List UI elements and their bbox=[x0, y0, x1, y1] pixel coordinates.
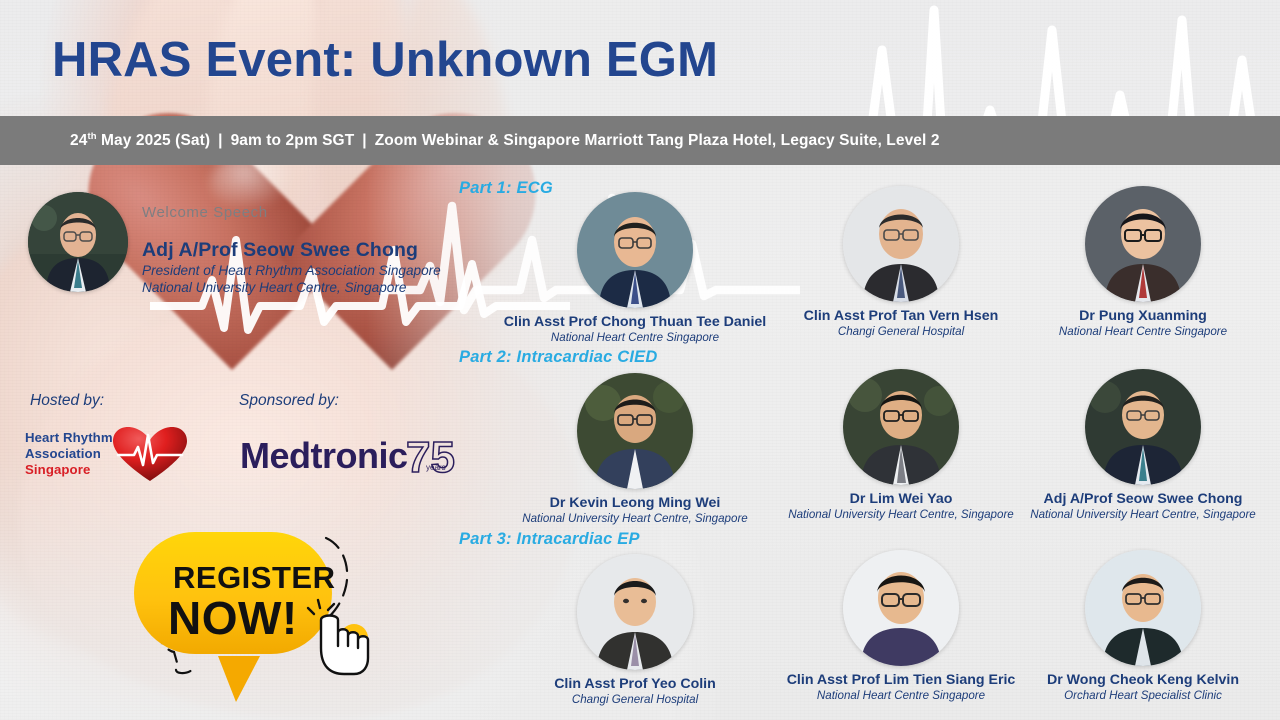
event-date-rest: May 2025 (Sat) bbox=[97, 132, 211, 149]
speaker-name: Dr Lim Wei Yao bbox=[766, 491, 1036, 507]
avatar bbox=[843, 550, 959, 666]
hras-logo-line2: Association bbox=[25, 446, 113, 462]
speaker-name: Clin Asst Prof Chong Thuan Tee Daniel bbox=[500, 314, 770, 330]
event-date-ordinal: th bbox=[87, 131, 96, 142]
speaker-affiliation: National University Heart Centre, Singap… bbox=[500, 512, 770, 525]
medtronic-anniversary: 75 bbox=[406, 433, 455, 480]
speaker-affiliation: National Heart Centre Singapore bbox=[766, 689, 1036, 702]
hosted-by-label: Hosted by: bbox=[30, 392, 104, 410]
speaker-affiliation: National University Heart Centre, Singap… bbox=[1008, 508, 1278, 521]
speaker-name: Dr Kevin Leong Ming Wei bbox=[500, 495, 770, 511]
speaker-affiliation: National Heart Centre Singapore bbox=[500, 331, 770, 344]
welcome-speaker-role-line1: President of Heart Rhythm Association Si… bbox=[142, 262, 462, 279]
hras-logo-line1: Heart Rhythm bbox=[25, 430, 113, 446]
medtronic-logo: Medtronic 75 years bbox=[240, 432, 465, 480]
avatar bbox=[577, 373, 693, 489]
speaker-name: Adj A/Prof Seow Swee Chong bbox=[1008, 491, 1278, 507]
register-line1: REGISTER bbox=[173, 560, 335, 595]
sponsored-by-label: Sponsored by: bbox=[239, 392, 339, 410]
medtronic-anniversary-sub: years bbox=[426, 463, 446, 472]
speaker-name: Dr Wong Cheok Keng Kelvin bbox=[1008, 672, 1278, 688]
speaker-affiliation: National Heart Centre Singapore bbox=[1008, 325, 1278, 338]
speaker-name: Clin Asst Prof Yeo Colin bbox=[500, 676, 770, 692]
event-details-text: 24th May 2025 (Sat)|9am to 2pm SGT|Zoom … bbox=[70, 131, 940, 150]
speaker-name: Clin Asst Prof Tan Vern Hsen bbox=[766, 308, 1036, 324]
welcome-speech-block: Welcome Speech Adj A/Prof Seow Swee Chon… bbox=[28, 192, 458, 312]
medtronic-wordmark: Medtronic bbox=[240, 435, 408, 476]
event-venue: Zoom Webinar & Singapore Marriott Tang P… bbox=[375, 132, 940, 149]
event-time: 9am to 2pm SGT bbox=[231, 132, 355, 149]
poster-header: HRAS Event: Unknown EGM bbox=[0, 0, 1280, 116]
speaker-card: Dr Kevin Leong Ming Wei National Univers… bbox=[500, 373, 770, 525]
speaker-affiliation: Changi General Hospital bbox=[766, 325, 1036, 338]
register-now-button[interactable]: REGISTER NOW! bbox=[118, 516, 398, 706]
details-separator-1: | bbox=[210, 132, 230, 150]
details-separator-2: | bbox=[354, 132, 374, 150]
event-details-bar: 24th May 2025 (Sat)|9am to 2pm SGT|Zoom … bbox=[0, 116, 1280, 165]
hras-logo: Heart Rhythm Association Singapore bbox=[25, 425, 190, 483]
speaker-card: Dr Pung Xuanming National Heart Centre S… bbox=[1008, 186, 1278, 338]
speaker-name: Clin Asst Prof Lim Tien Siang Eric bbox=[766, 672, 1036, 688]
heart-ecg-icon bbox=[110, 425, 190, 483]
event-date-day: 24 bbox=[70, 132, 87, 149]
page-title: HRAS Event: Unknown EGM bbox=[52, 32, 718, 88]
speaker-card: Dr Wong Cheok Keng Kelvin Orchard Heart … bbox=[1008, 550, 1278, 702]
speaker-card: Clin Asst Prof Yeo Colin Changi General … bbox=[500, 554, 770, 706]
speaker-name: Dr Pung Xuanming bbox=[1008, 308, 1278, 324]
hras-logo-line3: Singapore bbox=[25, 462, 113, 478]
avatar bbox=[843, 369, 959, 485]
register-line2: NOW! bbox=[168, 592, 298, 644]
avatar bbox=[843, 186, 959, 302]
avatar bbox=[1085, 369, 1201, 485]
speaker-card: Clin Asst Prof Lim Tien Siang Eric Natio… bbox=[766, 550, 1036, 702]
welcome-speaker-role-line2: National University Heart Centre, Singap… bbox=[142, 279, 462, 296]
speaker-card: Clin Asst Prof Chong Thuan Tee Daniel Na… bbox=[500, 192, 770, 344]
speaker-card: Clin Asst Prof Tan Vern Hsen Changi Gene… bbox=[766, 186, 1036, 338]
section-heading-part2: Part 2: Intracardiac CIED bbox=[459, 348, 658, 367]
avatar bbox=[1085, 186, 1201, 302]
speaker-affiliation: Orchard Heart Specialist Clinic bbox=[1008, 689, 1278, 702]
avatar bbox=[1085, 550, 1201, 666]
avatar bbox=[577, 192, 693, 308]
avatar bbox=[28, 192, 128, 292]
event-poster: HRAS Event: Unknown EGM 24th May 2025 (S… bbox=[0, 0, 1280, 720]
welcome-speech-label: Welcome Speech bbox=[142, 204, 462, 221]
speaker-affiliation: Changi General Hospital bbox=[500, 693, 770, 706]
avatar bbox=[577, 554, 693, 670]
speaker-affiliation: National University Heart Centre, Singap… bbox=[766, 508, 1036, 521]
section-heading-part3: Part 3: Intracardiac EP bbox=[459, 530, 640, 549]
hras-logo-text: Heart Rhythm Association Singapore bbox=[25, 430, 113, 479]
welcome-speaker-name: Adj A/Prof Seow Swee Chong bbox=[142, 239, 462, 262]
speaker-card: Adj A/Prof Seow Swee Chong National Univ… bbox=[1008, 369, 1278, 521]
speaker-card: Dr Lim Wei Yao National University Heart… bbox=[766, 369, 1036, 521]
